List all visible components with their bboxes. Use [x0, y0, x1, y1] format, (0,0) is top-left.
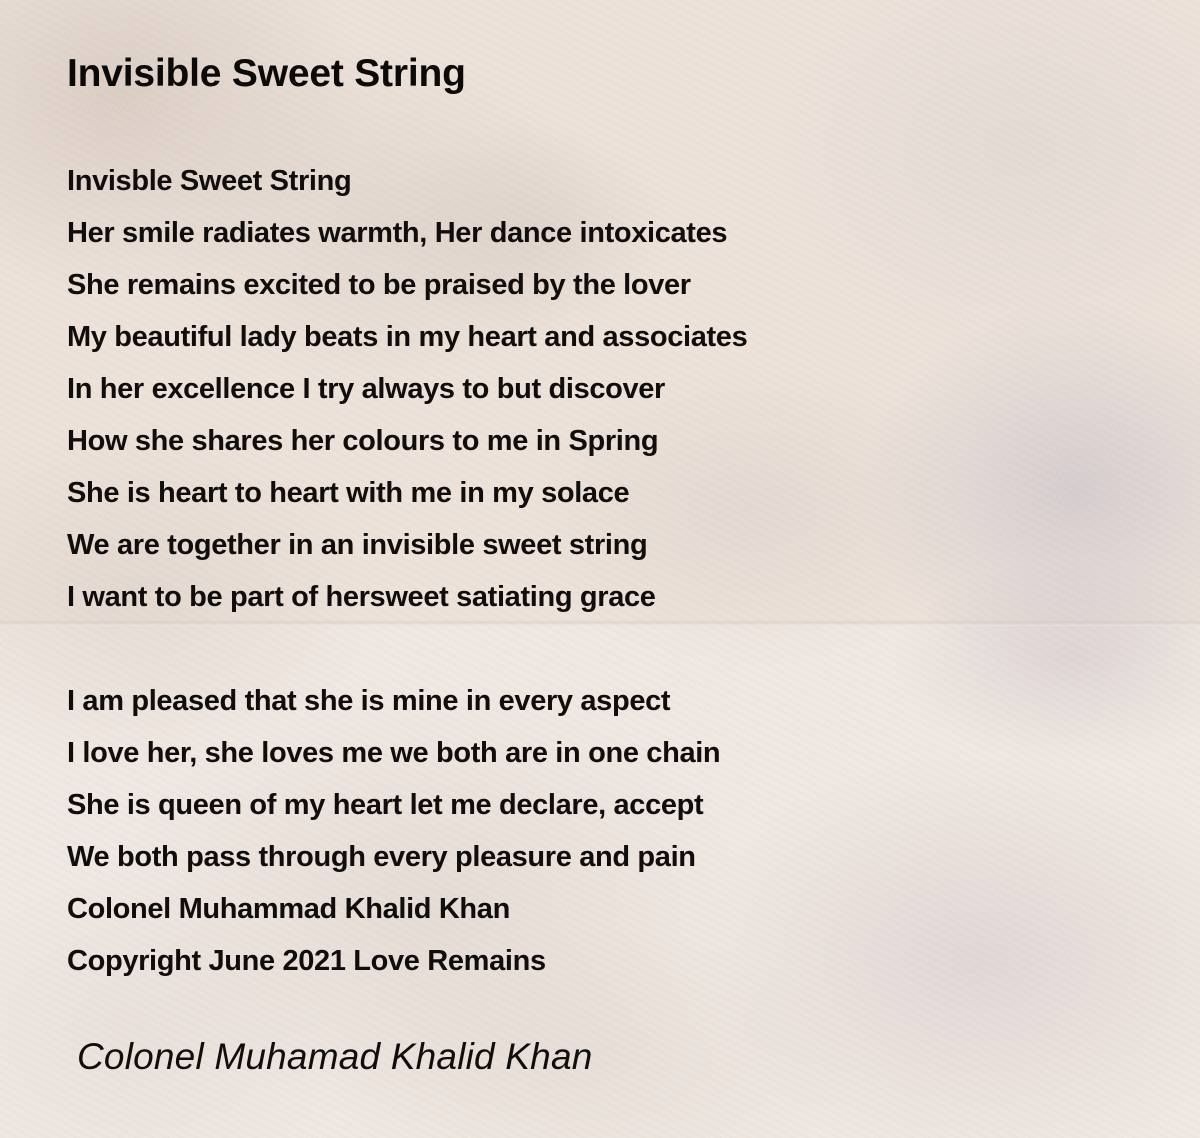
author-signature: Colonel Muhamad Khalid Khan: [77, 1036, 593, 1078]
poem-content: Invisible Sweet String Invisble Sweet St…: [0, 0, 1200, 1138]
poem-line: She is queen of my heart let me declare,…: [67, 779, 1067, 831]
poem-page: Invisible Sweet String Invisble Sweet St…: [0, 0, 1200, 1138]
poem-line: She remains excited to be praised by the…: [67, 259, 1067, 311]
poem-line: We are together in an invisible sweet st…: [67, 519, 1067, 571]
poem-author-line: Colonel Muhammad Khalid Khan: [67, 883, 1067, 935]
stanza-separator: [67, 623, 1067, 675]
page-title: Invisible Sweet String: [67, 52, 466, 96]
poem-line: Her smile radiates warmth, Her dance int…: [67, 207, 1067, 259]
poem-line: How she shares her colours to me in Spri…: [67, 415, 1067, 467]
poem-copyright-line: Copyright June 2021 Love Remains: [67, 935, 1067, 987]
poem-text-block: Invisble Sweet String Her smile radiates…: [67, 155, 1067, 987]
poem-line: I love her, she loves me we both are in …: [67, 727, 1067, 779]
poem-line: I want to be part of hersweet satiating …: [67, 571, 1067, 623]
poem-line: Invisble Sweet String: [67, 155, 1067, 207]
poem-line: She is heart to heart with me in my sola…: [67, 467, 1067, 519]
poem-line: In her excellence I try always to but di…: [67, 363, 1067, 415]
poem-line: We both pass through every pleasure and …: [67, 831, 1067, 883]
poem-line: My beautiful lady beats in my heart and …: [67, 311, 1067, 363]
poem-line: I am pleased that she is mine in every a…: [67, 675, 1067, 727]
